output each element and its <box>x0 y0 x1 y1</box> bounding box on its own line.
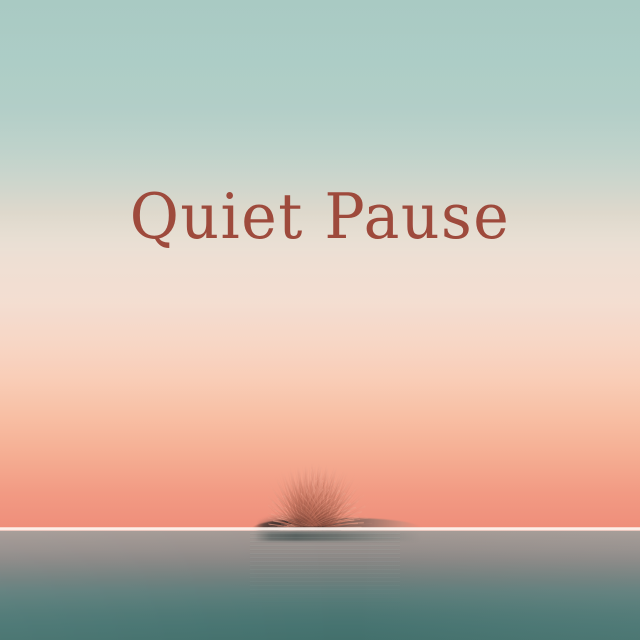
water-sheen <box>0 531 640 640</box>
tree-reflection-svg <box>262 531 378 609</box>
scene-layer <box>0 0 640 531</box>
tree <box>268 448 372 531</box>
island-reflection <box>254 532 420 541</box>
tree-canopy <box>268 459 372 531</box>
tree-svg <box>268 448 372 531</box>
tree-reflection-inner <box>262 531 378 609</box>
poster-canvas: Quiet Pause <box>0 0 640 640</box>
water-ripples <box>250 531 400 605</box>
water <box>0 531 640 640</box>
